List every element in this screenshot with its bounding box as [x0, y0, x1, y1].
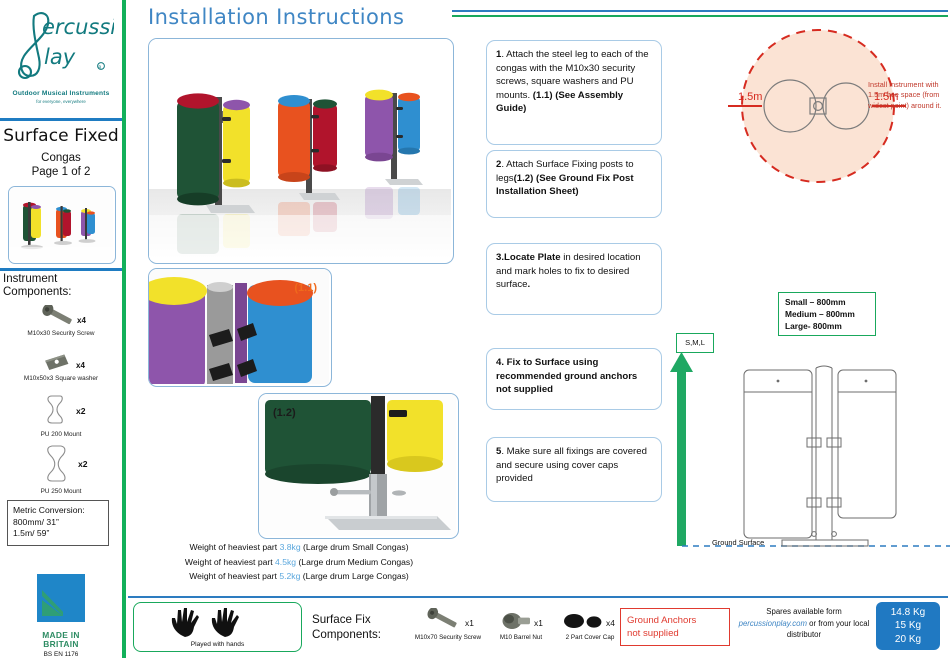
- component-label: PU 250 Mount: [0, 488, 122, 495]
- component-label: PU 200 Mount: [0, 431, 122, 438]
- logo-tagline-secondary: for everyone, everywhere: [0, 99, 122, 104]
- svg-text:lay: lay: [44, 45, 76, 69]
- congas-thumbnail-image: [9, 187, 113, 261]
- installation-instructions-page: ercussion lay R Outdoor Musical Instrume…: [0, 0, 950, 658]
- figure-tag-1-1-text: (1.1): [294, 282, 317, 294]
- made-in-britain-line2: BRITAIN: [28, 640, 94, 649]
- ground-anchors-warning: Ground Anchors not supplied: [620, 608, 730, 646]
- barrel-nut-icon: x1: [490, 608, 552, 634]
- detail-image-1-2: (1.2): [258, 393, 459, 539]
- component-label: M10x50x3 Square washer: [0, 375, 122, 382]
- ground-anchors-line1: Ground Anchors: [627, 614, 729, 627]
- sidebar-page-number: Page 1 of 2: [0, 166, 122, 178]
- svg-text:x1: x1: [465, 618, 474, 628]
- step-1: 1. Attach the steel leg to each of the c…: [486, 40, 662, 145]
- square-washer-icon: x4: [32, 352, 90, 374]
- spares-url[interactable]: percussionplay.com: [739, 619, 807, 628]
- weight-value: 5.2kg: [279, 571, 300, 581]
- made-in-britain-logo: MADE IN BRITAIN BS EN 1176: [28, 574, 94, 658]
- screw-icon: x4: [32, 305, 90, 329]
- made-in-britain-mark-icon: [33, 574, 89, 624]
- weight-badge-line3: 20 Kg: [895, 633, 921, 647]
- play-method-label: Played with hands: [134, 641, 301, 648]
- weight-badge: 14.8 Kg 15 Kg 20 Kg: [876, 602, 940, 650]
- height-medium: Medium – 800mm: [785, 309, 869, 321]
- weight-row: Weight of heaviest part 5.2kg (Large dru…: [134, 569, 464, 584]
- sidebar-divider-mid: [0, 268, 122, 271]
- footer-divider: [128, 596, 948, 598]
- page-title: Installation Instructions: [148, 5, 404, 29]
- conga-mount-closeup-render: (1.1): [149, 269, 329, 384]
- weight-prefix: Weight of heaviest part: [189, 571, 279, 581]
- header-rule-green: [452, 15, 948, 17]
- congas-range-render: [149, 39, 451, 261]
- svg-text:x4: x4: [77, 316, 86, 325]
- elevation-drawing-svg: [666, 350, 950, 555]
- weight-suffix: (Large drum Large Congas): [300, 571, 408, 581]
- weight-value: 4.5kg: [275, 557, 296, 567]
- weight-prefix: Weight of heaviest part: [185, 557, 275, 567]
- surface-fix-title-line1: Surface Fix: [312, 612, 381, 627]
- height-large: Large- 800mm: [785, 321, 869, 333]
- height-small: Small – 800mm: [785, 297, 869, 309]
- svg-text:R: R: [98, 65, 101, 71]
- metric-line-1: 800mm/ 31”: [13, 517, 103, 529]
- screw-icon: x1: [415, 608, 481, 634]
- step-5: 5. Make sure all fixings are covered and…: [486, 437, 662, 502]
- cover-cap-icon: x4: [556, 608, 624, 634]
- sidebar-vertical-divider: [122, 0, 126, 658]
- component-item: x4 M10x50x3 Square washer: [0, 352, 122, 382]
- instrument-components-title: Instrument Components:: [3, 273, 123, 299]
- component-item: x4 M10x30 Security Screw: [0, 305, 122, 337]
- weight-suffix: (Large drum Medium Congas): [296, 557, 413, 567]
- weight-row: Weight of heaviest part 3.8kg (Large dru…: [134, 540, 464, 555]
- header-rule-blue: [452, 10, 948, 12]
- ground-anchors-line2: not supplied: [627, 627, 729, 640]
- sidebar-divider-top: [0, 118, 122, 121]
- svg-text:x2: x2: [76, 406, 86, 416]
- spares-line1: Spares available form: [766, 607, 841, 616]
- step-4: 4. Fix to Surface using recommended grou…: [486, 348, 662, 410]
- step-3-period: .: [527, 279, 530, 290]
- component-label: M10x30 Security Screw: [0, 330, 122, 337]
- sidebar: ercussion lay R Outdoor Musical Instrume…: [0, 0, 122, 658]
- figure-tag-1-2-text: (1.2): [273, 407, 296, 419]
- weight-prefix: Weight of heaviest part: [189, 542, 279, 552]
- logo-mark-icon: ercussion lay R: [8, 6, 114, 92]
- percussion-play-logo: ercussion lay R Outdoor Musical Instrume…: [0, 4, 122, 116]
- svg-text:x2: x2: [78, 459, 88, 469]
- height-spec-box: Small – 800mm Medium – 800mm Large- 800m…: [778, 292, 876, 336]
- sidebar-section-title: Surface Fixed: [0, 126, 122, 146]
- metric-title: Metric Conversion:: [13, 505, 103, 517]
- weight-row: Weight of heaviest part 4.5kg (Large dru…: [134, 555, 464, 570]
- hands-icon: [163, 605, 273, 639]
- component-item: x2 PU 200 Mount: [0, 392, 122, 438]
- sidebar-product-name: Congas: [0, 152, 122, 164]
- surface-fix-title-line2: Components:: [312, 627, 381, 642]
- step-3-number: 3.: [496, 252, 504, 263]
- detail-image-1-1: (1.1) (1.1): [148, 268, 332, 387]
- step-5-text: . Make sure all fixings are covered and …: [496, 446, 647, 484]
- metric-line-2: 1.5m/ 59”: [13, 528, 103, 540]
- component-item: x2 PU 250 Mount: [0, 443, 122, 495]
- weights-list: Weight of heaviest part 3.8kg (Large dru…: [134, 540, 464, 584]
- step-4-text: 4. Fix to Surface using recommended grou…: [496, 357, 637, 395]
- pu-mount-icon: x2: [26, 392, 96, 430]
- height-arrow-icon: [670, 352, 693, 546]
- main-product-image: [148, 38, 454, 264]
- svg-text:x1: x1: [534, 618, 543, 628]
- metric-conversion-box: Metric Conversion: 800mm/ 31” 1.5m/ 59”: [7, 500, 109, 546]
- step-3-emphasis: Locate Plate: [504, 252, 561, 263]
- surface-fix-post-closeup-render: (1.2): [259, 394, 456, 536]
- weight-suffix: (Large drum Small Congas): [301, 542, 409, 552]
- clearance-left-label: 1.5m: [738, 91, 762, 103]
- logo-tagline: Outdoor Musical Instruments: [0, 90, 122, 97]
- weight-value: 3.8kg: [280, 542, 301, 552]
- technical-elevation-drawing: [666, 350, 950, 555]
- step-3: 3.Locate Plate in desired location and m…: [486, 243, 662, 315]
- svg-text:ercussion: ercussion: [42, 15, 114, 39]
- standard-label: BS EN 1176: [28, 651, 94, 658]
- step-2: 2. Attach Surface Fixing posts to legs(1…: [486, 150, 662, 218]
- product-thumbnail: [8, 186, 116, 264]
- weight-badge-line1: 14.8 Kg: [891, 606, 925, 620]
- play-method-box: Played with hands: [133, 602, 302, 652]
- spares-note: Spares available form percussionplay.com…: [736, 606, 872, 641]
- step-2-emphasis: (1.2) (See Ground Fix Post Installation …: [496, 173, 634, 198]
- clearance-note: Install Instrument with 1.5m free space …: [868, 80, 950, 111]
- weight-badge-line2: 15 Kg: [895, 619, 921, 633]
- ground-surface-label: Ground Surface: [712, 538, 764, 547]
- svg-text:x4: x4: [76, 361, 85, 370]
- svg-text:x4: x4: [606, 618, 615, 628]
- surface-fix-components-title: Surface Fix Components:: [312, 612, 381, 642]
- pu-mount-icon: x2: [26, 443, 96, 487]
